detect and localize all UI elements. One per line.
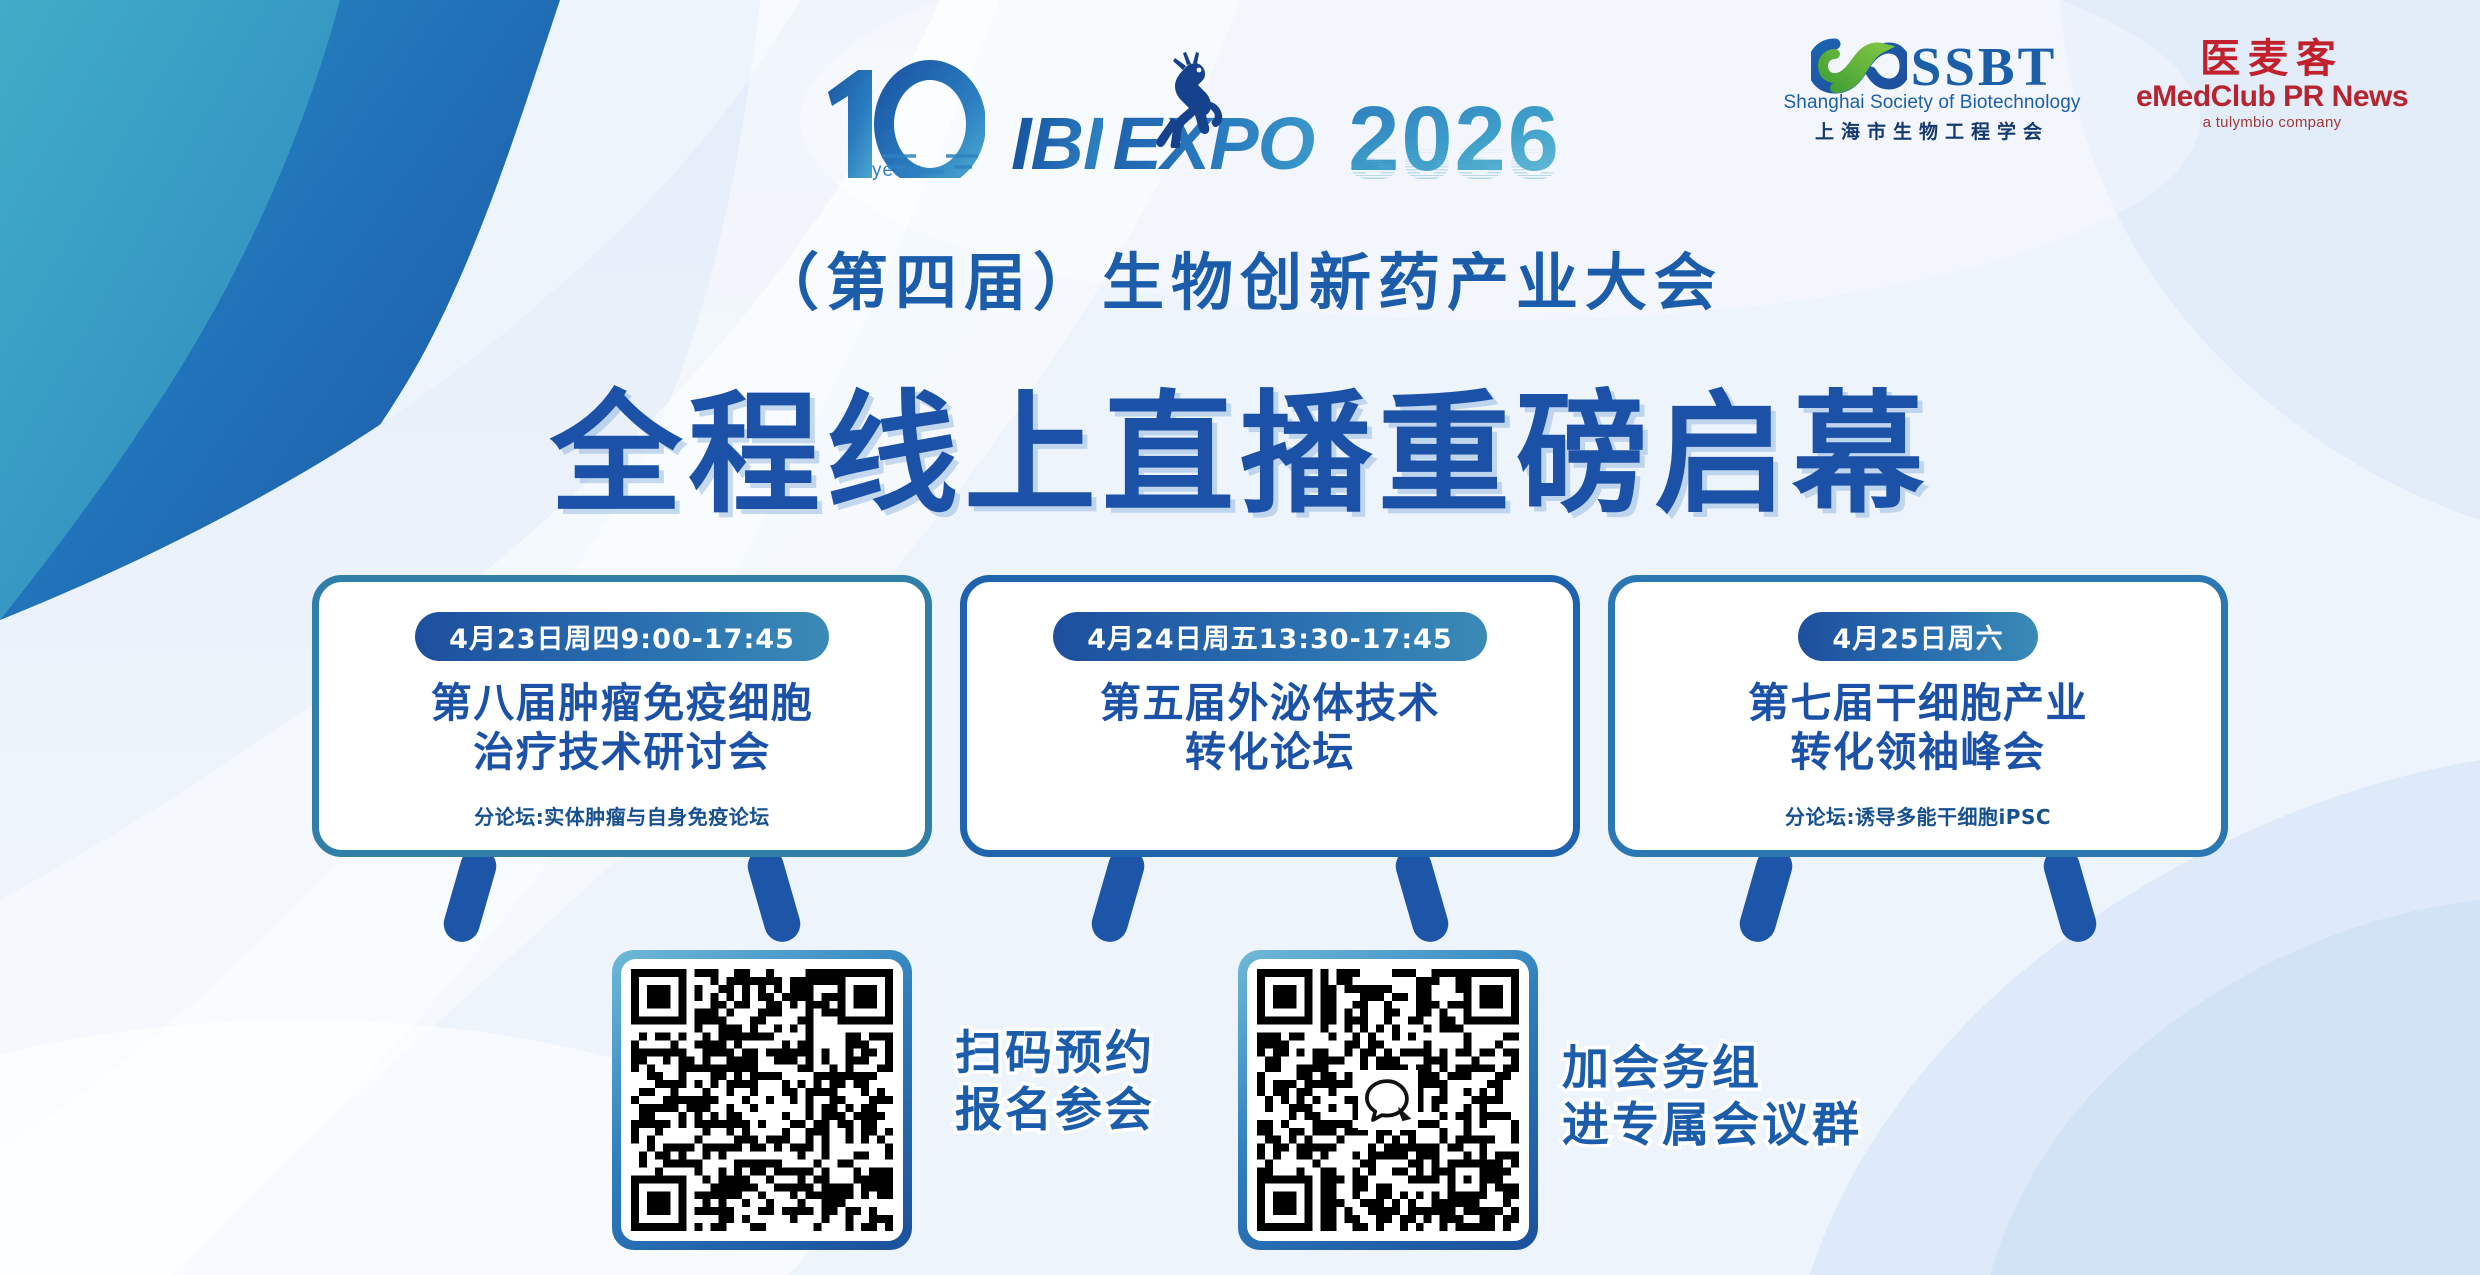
chat-bubble-icon: [1358, 1070, 1418, 1130]
easel-legs-icon: [960, 847, 1580, 955]
infinity-logo-icon: [1811, 36, 1907, 96]
anniversary-years-label: years: [872, 160, 923, 182]
card-title: 第七届干细胞产业 转化领袖峰会: [1748, 679, 2088, 777]
registration-qr-block[interactable]: [612, 950, 912, 1250]
event-year-block: 2026 2026: [1348, 100, 1561, 178]
qr-inner: [1247, 959, 1529, 1241]
caption-line2: 报名参会: [955, 1082, 1155, 1139]
registration-qr-caption: 扫码预约 报名参会: [955, 1025, 1155, 1140]
ssbt-letter-t: T: [2018, 39, 2054, 94]
session-card-2[interactable]: 4月24日周五13:30-17:45 第五届外泌体技术 转化论坛: [960, 575, 1580, 955]
card-body: 4月25日周六 第七届干细胞产业 转化领袖峰会 分论坛:诱导多能干细胞iPSC: [1608, 575, 2228, 857]
promo-banner: years IBI EXPO 20: [0, 0, 2480, 1275]
card-title: 第八届肿瘤免疫细胞 治疗技术研讨会: [431, 679, 814, 777]
ibi-expo-wordmark: IBI EXPO: [1011, 110, 1314, 178]
easel-legs-icon: [312, 847, 932, 955]
session-card-1[interactable]: 4月23日周四9:00-17:45 第八届肿瘤免疫细胞 治疗技术研讨会 分论坛:…: [312, 575, 932, 955]
emedclub-english-name: eMedClub PR News: [2122, 80, 2422, 113]
card-title-line1: 第五届外泌体技术: [1100, 679, 1440, 728]
card-subforum: 分论坛:诱导多能干细胞iPSC: [1785, 801, 2051, 830]
card-title-line2: 转化领袖峰会: [1748, 728, 2088, 777]
ssbt-letter-b: B: [1978, 39, 2014, 94]
ssbt-english-name: Shanghai Society of Biotechnology: [1782, 92, 2082, 114]
card-date-badge: 4月23日周四9:00-17:45: [415, 612, 829, 661]
ibi-text: IBI: [1011, 110, 1103, 178]
card-date-badge: 4月24日周五13:30-17:45: [1053, 612, 1486, 661]
event-year-reflection: 2026: [1348, 144, 1561, 182]
card-title-line2: 转化论坛: [1100, 728, 1440, 777]
session-cards: 4月23日周四9:00-17:45 第八届肿瘤免疫细胞 治疗技术研讨会 分论坛:…: [0, 575, 2480, 955]
ssbt-chinese-name: 上海市生物工程学会: [1782, 117, 2082, 144]
qr-frame: [612, 950, 912, 1250]
main-headline: 全程线上直播重磅启幕: [0, 348, 2480, 539]
conference-subtitle: （第四届）生物创新药产业大会: [0, 232, 2480, 322]
header: years IBI EXPO 20: [0, 0, 2480, 210]
event-logo-lockup: years IBI EXPO 20: [820, 58, 1561, 178]
session-card-3[interactable]: 4月25日周六 第七届干细胞产业 转化领袖峰会 分论坛:诱导多能干细胞iPSC: [1608, 575, 2228, 955]
emedclub-chinese-name: 医麦客: [2122, 38, 2422, 80]
ssbt-letter-s1: S: [1911, 39, 1941, 94]
card-title-line1: 第八届肿瘤免疫细胞: [431, 679, 814, 728]
card-title: 第五届外泌体技术 转化论坛: [1100, 679, 1440, 777]
caption-line1: 加会务组: [1562, 1040, 1862, 1097]
caption-line2: 进专属会议群: [1562, 1097, 1862, 1154]
wechat-group-qr-caption: 加会务组 进专属会议群: [1562, 1040, 1862, 1155]
card-body: 4月24日周五13:30-17:45 第五届外泌体技术 转化论坛: [960, 575, 1580, 857]
card-date-badge: 4月25日周六: [1798, 612, 2037, 661]
ssbt-letter-s2: S: [1944, 39, 1974, 94]
qr-inner: [621, 959, 903, 1241]
easel-legs-icon: [1608, 847, 2228, 955]
anniversary-10-mark: years: [820, 60, 985, 178]
card-title-line1: 第七届干细胞产业: [1748, 679, 2088, 728]
card-body: 4月23日周四9:00-17:45 第八届肿瘤免疫细胞 治疗技术研讨会 分论坛:…: [312, 575, 932, 857]
caption-line1: 扫码预约: [955, 1025, 1155, 1082]
wechat-group-qr-block[interactable]: [1238, 950, 1538, 1250]
ssbt-logo: S S B T Shanghai Society of Biotechnolog…: [1782, 36, 2082, 144]
card-title-line2: 治疗技术研讨会: [431, 728, 814, 777]
emedclub-tagline: a tulymbio company: [2122, 114, 2422, 131]
deer-icon: [1149, 52, 1241, 148]
card-subforum: 分论坛:实体肿瘤与自身免疫论坛: [474, 801, 770, 830]
emedclub-logo: 医麦客 eMedClub PR News a tulymbio company: [2122, 38, 2422, 131]
qr-frame: [1238, 950, 1538, 1250]
registration-qr-icon[interactable]: [631, 969, 893, 1231]
